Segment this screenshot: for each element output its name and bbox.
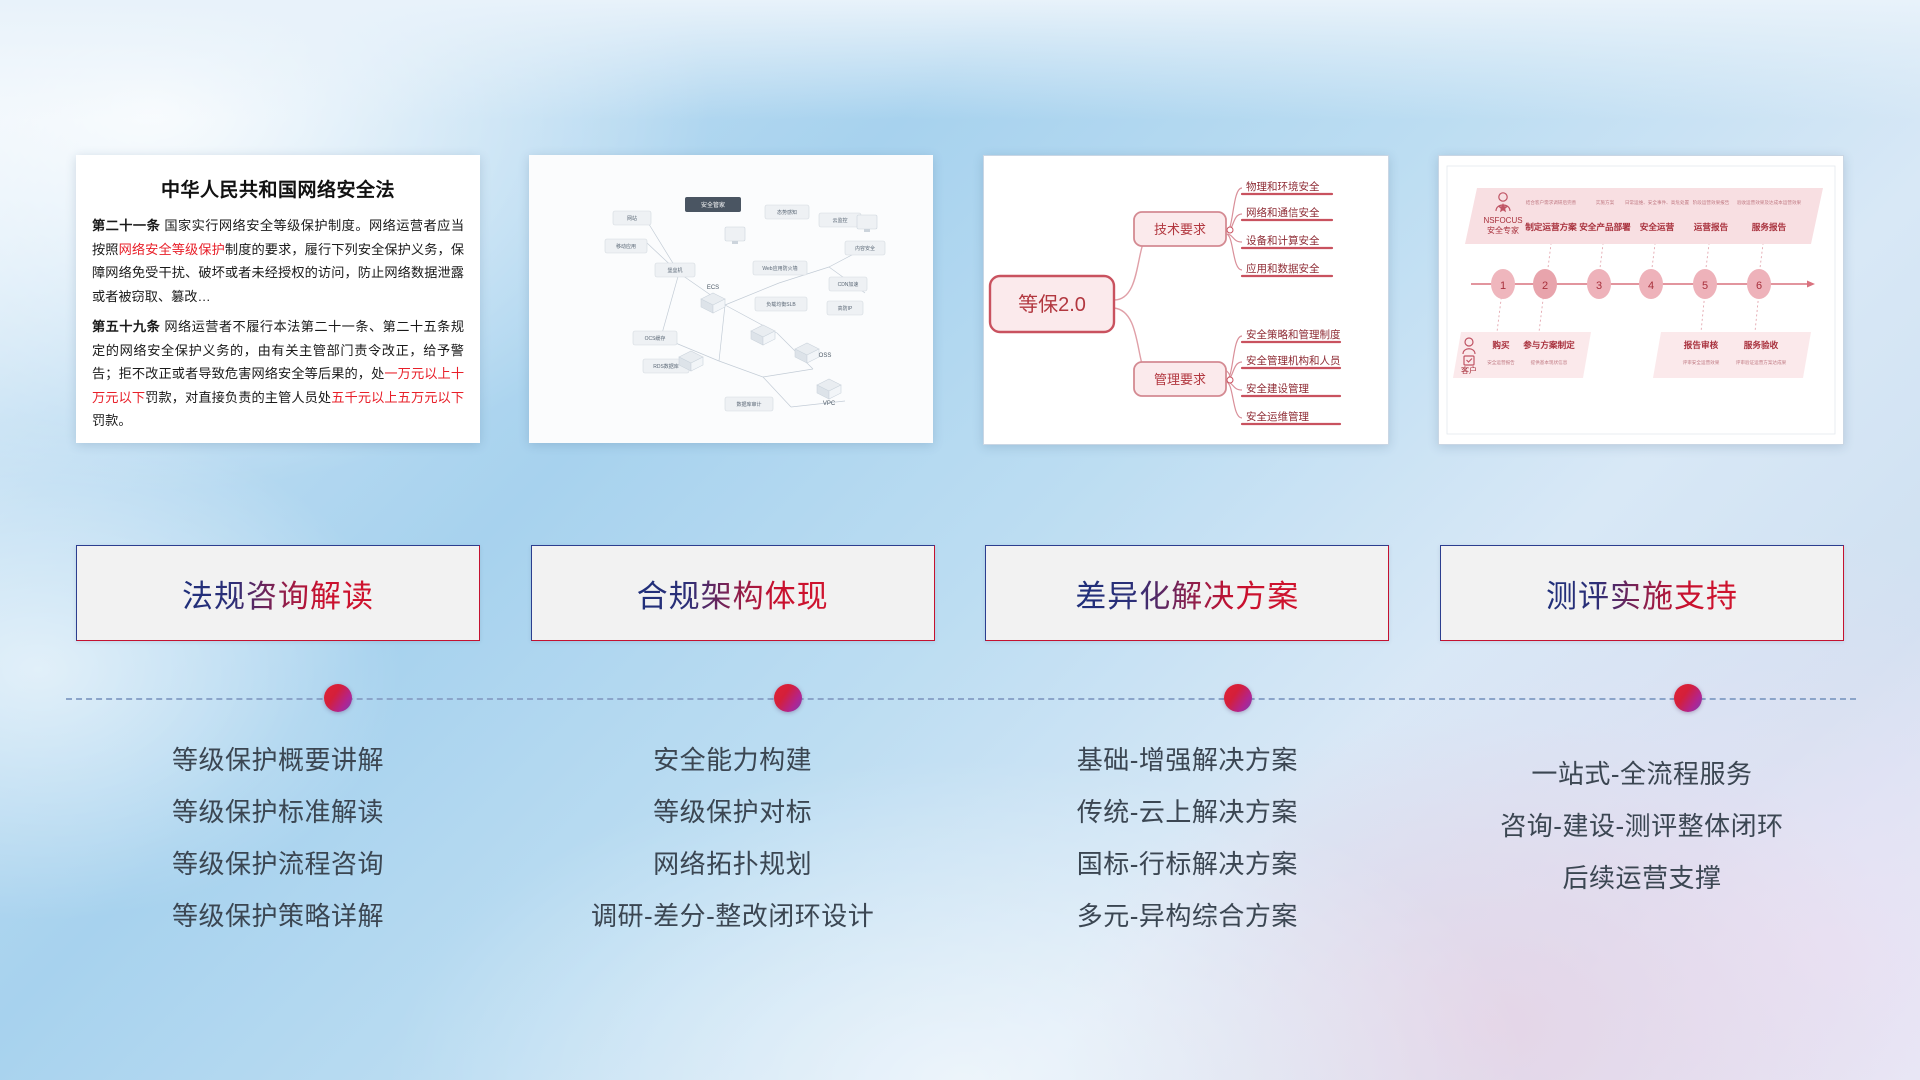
card-dengbao-mindmap: 等保2.0 技术要求 管理要求 物理和环境安全 网络和通信安全 设备和计算安全 … — [983, 155, 1389, 445]
card-cybersecurity-law: 中华人民共和国网络安全法 第二十一条 国家实行网络安全等级保护制度。网络运营者应… — [76, 155, 480, 443]
svg-text:客户: 客户 — [1461, 365, 1477, 375]
svg-text:负载均衡SLB: 负载均衡SLB — [767, 301, 797, 308]
svg-text:安全管家: 安全管家 — [701, 201, 725, 209]
svg-text:1: 1 — [1500, 280, 1506, 292]
svg-text:安全策略和管理制度: 安全策略和管理制度 — [1246, 328, 1341, 341]
svg-text:实施方案: 实施方案 — [1596, 199, 1615, 206]
law-article-21: 第二十一条 国家实行网络安全等级保护制度。网络运营者应当按照网络安全等级保护制度… — [92, 214, 464, 308]
law-article-59-highlight-2: 五千元以上五万元以下 — [331, 390, 464, 405]
svg-text:运营报告: 运营报告 — [1694, 221, 1729, 232]
section-header-label: 法规咨询解读 — [182, 571, 374, 616]
svg-text:安全运维管理: 安全运维管理 — [1246, 410, 1309, 423]
timeline-dot-1[interactable] — [324, 684, 352, 712]
svg-text:移动应用: 移动应用 — [616, 243, 636, 250]
svg-text:CDN加速: CDN加速 — [838, 281, 859, 288]
law-document: 中华人民共和国网络安全法 第二十一条 国家实行网络安全等级保护制度。网络运营者应… — [76, 155, 480, 443]
list-item: 国标-行标解决方案 — [985, 839, 1389, 891]
list-item: 等级保护流程咨询 — [76, 839, 480, 891]
mindmap-svg: 等保2.0 技术要求 管理要求 物理和环境安全 网络和通信安全 设备和计算安全 … — [984, 156, 1388, 444]
list-item: 网络拓扑规划 — [531, 839, 935, 891]
section-header-label: 合规架构体现 — [637, 571, 829, 616]
section-header-label: 差异化解决方案 — [1075, 571, 1299, 616]
section-header-regulation-consulting[interactable]: 法规咨询解读 — [76, 545, 480, 641]
svg-text:Web应用防火墙: Web应用防火墙 — [763, 265, 798, 272]
list-item: 等级保护标准解读 — [76, 787, 480, 839]
list-item: 传统-云上解决方案 — [985, 787, 1389, 839]
svg-text:日常运维、安全事件、高危处置: 日常运维、安全事件、高危处置 — [1625, 199, 1690, 206]
svg-text:6: 6 — [1756, 280, 1762, 292]
svg-text:购买: 购买 — [1492, 339, 1510, 350]
card-cloud-architecture: 基础合规架构增强合规架构 — [529, 155, 933, 443]
svg-text:验收运营效果及达成本运营效果: 验收运营效果及达成本运营效果 — [1737, 199, 1802, 206]
list-item: 等级保护策略详解 — [76, 891, 480, 943]
svg-text:评审验证运营方案达成果: 评审验证运营方案达成果 — [1736, 359, 1787, 366]
svg-text:安全运营: 安全运营 — [1640, 221, 1675, 232]
list-item: 等级保护对标 — [531, 787, 935, 839]
timeline — [66, 697, 1856, 701]
svg-text:云监控: 云监控 — [833, 217, 848, 224]
detail-list-assessment-support: 一站式-全流程服务 咨询-建设-测评整体闭环 后续运营支撑 — [1440, 735, 1844, 943]
svg-text:网站: 网站 — [627, 215, 637, 222]
law-article-59-text-b: 罚款，对直接负责的主管人员处 — [145, 390, 331, 405]
svg-text:参与方案制定: 参与方案制定 — [1523, 339, 1575, 350]
architecture-svg: 安全管家 网站 移动应用 堡垒机 态势感知 云监控 内容安全 Web应用防火墙 … — [529, 155, 933, 443]
law-article-59-text-c: 罚款。 — [92, 413, 132, 428]
section-header-compliance-architecture[interactable]: 合规架构体现 — [531, 545, 935, 641]
mindmap: 等保2.0 技术要求 管理要求 物理和环境安全 网络和通信安全 设备和计算安全 … — [984, 156, 1388, 444]
screenshot-card-row: 中华人民共和国网络安全法 第二十一条 国家实行网络安全等级保护制度。网络运营者应… — [76, 155, 1844, 445]
svg-text:安全产品部署: 安全产品部署 — [1579, 221, 1631, 232]
timeline-dot-4[interactable] — [1674, 684, 1702, 712]
nsfocus-svg: 1 2 3 4 5 6 — [1439, 156, 1843, 444]
svg-text:技术要求: 技术要求 — [1154, 222, 1206, 237]
svg-text:评审安全运营效果: 评审安全运营效果 — [1683, 359, 1720, 366]
detail-list-differentiated-solution: 基础-增强解决方案 传统-云上解决方案 国标-行标解决方案 多元-异构综合方案 — [985, 735, 1389, 943]
slide-stage: 中华人民共和国网络安全法 第二十一条 国家实行网络安全等级保护制度。网络运营者应… — [0, 0, 1920, 1080]
svg-text:网络和通信安全: 网络和通信安全 — [1246, 206, 1320, 219]
svg-text:服务验收: 服务验收 — [1744, 339, 1779, 350]
svg-text:5: 5 — [1702, 280, 1708, 292]
section-header-label: 测评实施支持 — [1546, 571, 1738, 616]
law-article-59-label: 第五十九条 — [92, 319, 160, 334]
svg-text:安全管理机构和人员: 安全管理机构和人员 — [1246, 354, 1341, 367]
list-item: 安全能力构建 — [531, 735, 935, 787]
timeline-dot-3[interactable] — [1224, 684, 1252, 712]
svg-text:结合客户需求调研后完善: 结合客户需求调研后完善 — [1526, 199, 1577, 206]
architecture-diagram: 基础合规架构增强合规架构 — [529, 155, 933, 443]
nsfocus-service-flow: 1 2 3 4 5 6 — [1439, 156, 1843, 444]
svg-text:物理和环境安全: 物理和环境安全 — [1246, 180, 1320, 193]
svg-text:服务报告: 服务报告 — [1752, 221, 1787, 232]
svg-text:内容安全: 内容安全 — [855, 245, 875, 252]
list-item: 咨询-建设-测评整体闭环 — [1440, 801, 1844, 853]
law-article-21-highlight: 网络安全等级保护 — [119, 242, 225, 257]
svg-text:NSFOCUS: NSFOCUS — [1483, 216, 1522, 225]
law-article-59: 第五十九条 网络运营者不履行本法第二十一条、第二十五条规定的网络安全保护义务的，… — [92, 315, 464, 433]
law-title: 中华人民共和国网络安全法 — [92, 175, 464, 202]
timeline-dot-2[interactable] — [774, 684, 802, 712]
section-header-row: 法规咨询解读 合规架构体现 差异化解决方案 测评实施支持 — [76, 545, 1844, 643]
list-item: 等级保护概要讲解 — [76, 735, 480, 787]
detail-list-row: 等级保护概要讲解 等级保护标准解读 等级保护流程咨询 等级保护策略详解 安全能力… — [76, 735, 1844, 943]
svg-text:3: 3 — [1596, 280, 1602, 292]
svg-text:ECS: ECS — [707, 285, 719, 291]
list-item: 一站式-全流程服务 — [1440, 749, 1844, 801]
svg-text:管理要求: 管理要求 — [1154, 372, 1206, 387]
svg-text:制定运营方案: 制定运营方案 — [1525, 221, 1577, 232]
svg-text:阶段运营效果报告: 阶段运营效果报告 — [1693, 199, 1730, 206]
section-header-assessment-support[interactable]: 测评实施支持 — [1440, 545, 1844, 641]
detail-list-regulation-consulting: 等级保护概要讲解 等级保护标准解读 等级保护流程咨询 等级保护策略详解 — [76, 735, 480, 943]
card-nsfocus-timeline: 1 2 3 4 5 6 — [1438, 155, 1844, 445]
svg-text:堡垒机: 堡垒机 — [668, 267, 683, 274]
svg-text:OSS: OSS — [819, 353, 832, 359]
svg-text:等保2.0: 等保2.0 — [1018, 293, 1086, 316]
list-item: 多元-异构综合方案 — [985, 891, 1389, 943]
svg-text:安全建设管理: 安全建设管理 — [1246, 382, 1309, 395]
svg-text:2: 2 — [1542, 280, 1548, 292]
svg-text:OCS缓存: OCS缓存 — [645, 335, 666, 342]
law-article-21-label: 第二十一条 — [92, 218, 160, 233]
svg-text:设备和计算安全: 设备和计算安全 — [1246, 234, 1320, 247]
svg-text:高防IP: 高防IP — [838, 305, 853, 312]
list-item: 后续运营支撑 — [1440, 853, 1844, 905]
svg-text:4: 4 — [1648, 280, 1654, 292]
svg-text:安全运营报告: 安全运营报告 — [1487, 359, 1515, 366]
svg-text:VPC: VPC — [823, 401, 836, 407]
svg-text:态势感知: 态势感知 — [777, 209, 797, 216]
detail-list-compliance-architecture: 安全能力构建 等级保护对标 网络拓扑规划 调研-差分-整改闭环设计 — [531, 735, 935, 943]
list-item: 调研-差分-整改闭环设计 — [531, 891, 935, 943]
list-item: 基础-增强解决方案 — [985, 735, 1389, 787]
svg-text:报告审核: 报告审核 — [1684, 339, 1719, 350]
svg-text:提供基本现状信息: 提供基本现状信息 — [1531, 359, 1568, 366]
svg-text:应用和数据安全: 应用和数据安全 — [1246, 262, 1320, 275]
svg-text:数据库审计: 数据库审计 — [737, 401, 762, 408]
section-header-differentiated-solution[interactable]: 差异化解决方案 — [985, 545, 1389, 641]
svg-text:RDS数据库: RDS数据库 — [654, 363, 680, 370]
svg-text:安全专家: 安全专家 — [1487, 225, 1519, 235]
